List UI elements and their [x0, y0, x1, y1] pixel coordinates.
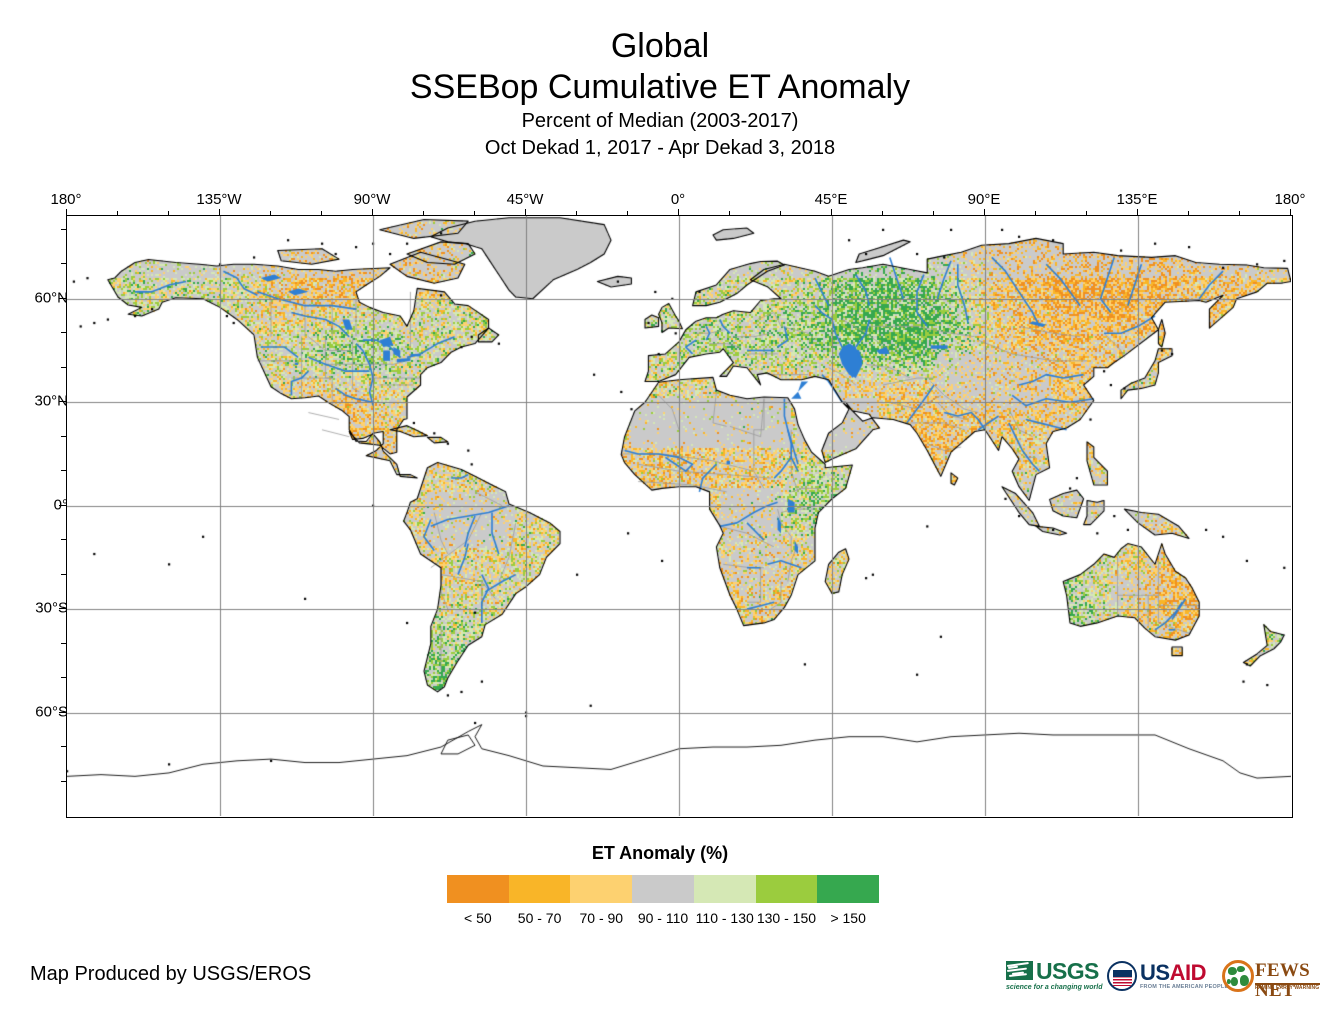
fewsnet-wordmark: FEWS NET: [1255, 961, 1320, 1001]
fewsnet-logo: FEWS NET FAMINE EARLY WARNING SYSTEMS NE…: [1222, 958, 1320, 996]
fewsnet-globe-icon: [1222, 960, 1254, 992]
world-anomaly-raster[interactable]: [67, 216, 1291, 816]
lon-label-8: 180°: [1274, 191, 1305, 208]
legend-color-bar: [447, 875, 879, 903]
usaid-wordmark: USAID: [1140, 961, 1206, 984]
legend-swatch-4: [694, 875, 756, 903]
lon-label-7: 135°E: [1116, 191, 1157, 208]
lon-label-2: 90°W: [354, 191, 391, 208]
usaid-logo: USAID FROM THE AMERICAN PEOPLE: [1107, 958, 1213, 996]
legend-swatch-3: [632, 875, 694, 903]
lon-label-3: 45°W: [507, 191, 544, 208]
usgs-wordmark: USGS: [1036, 960, 1099, 983]
usaid-seal-icon: [1107, 961, 1137, 991]
legend-label-3: 90 - 110: [632, 908, 694, 928]
legend-swatch-6: [817, 875, 879, 903]
lon-label-0: 180°: [50, 191, 81, 208]
lon-label-6: 90°E: [968, 191, 1001, 208]
legend-label-4: 110 - 130: [694, 908, 756, 928]
usaid-word-aid: AID: [1170, 960, 1206, 985]
legend-swatch-5: [756, 875, 818, 903]
page-title-line1: Global: [0, 26, 1320, 66]
usgs-logo: USGS science for a changing world: [1006, 958, 1098, 996]
map-credit: Map Produced by USGS/EROS: [30, 963, 311, 986]
legend-label-row: < 5050 - 7070 - 9090 - 110110 - 130130 -…: [447, 908, 879, 928]
lon-label-4: 0°: [671, 191, 685, 208]
page-title-line2: SSEBop Cumulative ET Anomaly: [0, 66, 1320, 108]
legend-label-1: 50 - 70: [509, 908, 571, 928]
logo-row: USGS science for a changing world USAID …: [1006, 957, 1320, 997]
legend-swatch-2: [570, 875, 632, 903]
legend-label-6: > 150: [817, 908, 879, 928]
legend-title: ET Anomaly (%): [0, 843, 1320, 864]
legend-label-0: < 50: [447, 908, 509, 928]
lon-label-5: 45°E: [815, 191, 848, 208]
page-subtitle-daterange: Oct Dekad 1, 2017 - Apr Dekad 3, 2018: [0, 135, 1320, 161]
map-plot-area[interactable]: [66, 215, 1293, 818]
legend-swatch-1: [509, 875, 571, 903]
fewsnet-tagline: FAMINE EARLY WARNING SYSTEMS NETWORK: [1255, 985, 1320, 991]
usgs-tagline: science for a changing world: [1006, 984, 1098, 991]
usaid-word-us: US: [1140, 960, 1170, 985]
legend-label-2: 70 - 90: [570, 908, 632, 928]
legend-label-5: 130 - 150: [756, 908, 818, 928]
usgs-wave-mark-icon: [1006, 961, 1033, 980]
legend-swatch-0: [447, 875, 509, 903]
title-block: Global SSEBop Cumulative ET Anomaly Perc…: [0, 26, 1320, 161]
lon-label-1: 135°W: [196, 191, 241, 208]
page-subtitle-period: Percent of Median (2003-2017): [0, 108, 1320, 135]
usaid-tagline: FROM THE AMERICAN PEOPLE: [1140, 984, 1228, 990]
